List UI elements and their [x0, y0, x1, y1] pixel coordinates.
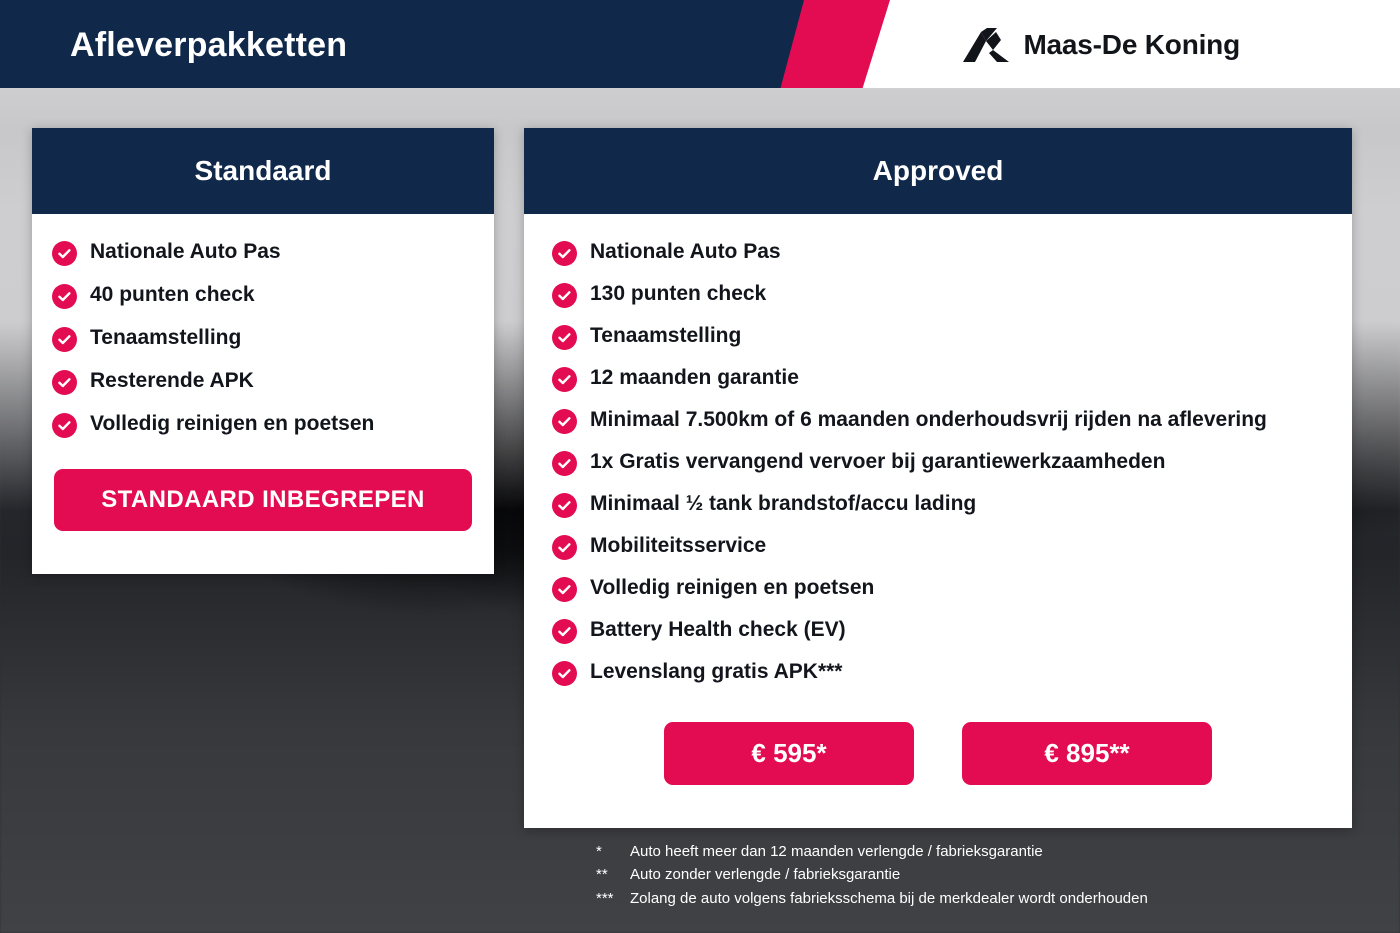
feature-item: Nationale Auto Pas — [52, 238, 474, 266]
check-circle-icon — [552, 661, 577, 686]
feature-label: Mobiliteitsservice — [590, 532, 766, 560]
poster-root: Afleverpakketten Maas-De Koning Standaar… — [0, 0, 1400, 933]
footnotes: *Auto heeft meer dan 12 maanden verlengd… — [596, 840, 1356, 910]
standaard-button-wrap: STANDAARD INBEGREPEN — [32, 453, 494, 531]
feature-item: 130 punten check — [552, 280, 1334, 308]
check-circle-icon — [552, 241, 577, 266]
feature-label: 1x Gratis vervangend vervoer bij garanti… — [590, 448, 1165, 476]
feature-item: Resterende APK — [52, 367, 474, 395]
page-title: Afleverpakketten — [70, 0, 347, 90]
feature-item: Tenaamstelling — [552, 322, 1334, 350]
footnote-marker: * — [596, 840, 630, 863]
feature-item: Minimaal ½ tank brandstof/accu lading — [552, 490, 1334, 518]
package-card-approved: Approved Nationale Auto Pas130 punten ch… — [524, 128, 1352, 828]
feature-item: Volledig reinigen en poetsen — [52, 410, 474, 438]
footnote-row: **Auto zonder verlengde / fabrieksgarant… — [596, 863, 1356, 886]
check-circle-icon — [52, 370, 77, 395]
feature-label: Minimaal ½ tank brandstof/accu lading — [590, 490, 976, 518]
footnote-marker: *** — [596, 887, 630, 910]
check-circle-icon — [52, 241, 77, 266]
check-circle-icon — [52, 413, 77, 438]
check-circle-icon — [552, 409, 577, 434]
feature-label: Levenslang gratis APK*** — [590, 658, 842, 686]
footnote-text: Zolang de auto volgens fabrieksschema bi… — [630, 887, 1148, 910]
page-header: Afleverpakketten Maas-De Koning — [0, 0, 1400, 90]
check-circle-icon — [552, 577, 577, 602]
card-title-standaard: Standaard — [32, 128, 494, 214]
check-circle-icon — [552, 367, 577, 392]
feature-item: 12 maanden garantie — [552, 364, 1334, 392]
card-body-standaard: Nationale Auto Pas40 punten checkTenaams… — [32, 214, 494, 531]
feature-label: Battery Health check (EV) — [590, 616, 846, 644]
standaard-included-button[interactable]: STANDAARD INBEGREPEN — [54, 469, 472, 531]
feature-item: Levenslang gratis APK*** — [552, 658, 1334, 686]
feature-item: Battery Health check (EV) — [552, 616, 1334, 644]
check-circle-icon — [552, 535, 577, 560]
footnote-row: *Auto heeft meer dan 12 maanden verlengd… — [596, 840, 1356, 863]
check-circle-icon — [552, 493, 577, 518]
check-circle-icon — [552, 283, 577, 308]
brand-logo: Maas-De Koning — [963, 0, 1240, 90]
footnote-row: ***Zolang de auto volgens fabrieksschema… — [596, 887, 1356, 910]
price-button[interactable]: € 895** — [962, 722, 1212, 785]
maas-de-koning-m-mark-icon — [963, 28, 1009, 62]
feature-item: 40 punten check — [52, 281, 474, 309]
feature-label: Nationale Auto Pas — [90, 238, 281, 266]
feature-label: 12 maanden garantie — [590, 364, 799, 392]
footnote-text: Auto zonder verlengde / fabrieksgarantie — [630, 863, 900, 886]
feature-label: Nationale Auto Pas — [590, 238, 781, 266]
price-button-row: € 595*€ 895** — [524, 700, 1352, 785]
feature-label: Volledig reinigen en poetsen — [590, 574, 874, 602]
feature-label: Volledig reinigen en poetsen — [90, 410, 374, 438]
feature-item: Tenaamstelling — [52, 324, 474, 352]
feature-label: 40 punten check — [90, 281, 255, 309]
feature-item: 1x Gratis vervangend vervoer bij garanti… — [552, 448, 1334, 476]
feature-label: 130 punten check — [590, 280, 766, 308]
check-circle-icon — [552, 619, 577, 644]
feature-label: Minimaal 7.500km of 6 maanden onderhouds… — [590, 406, 1267, 434]
feature-item: Minimaal 7.500km of 6 maanden onderhouds… — [552, 406, 1334, 434]
feature-list-standaard: Nationale Auto Pas40 punten checkTenaams… — [32, 214, 494, 438]
check-circle-icon — [552, 325, 577, 350]
feature-item: Nationale Auto Pas — [552, 238, 1334, 266]
feature-label: Resterende APK — [90, 367, 254, 395]
header-underline — [0, 88, 1400, 90]
check-circle-icon — [52, 327, 77, 352]
brand-name: Maas-De Koning — [1023, 29, 1240, 61]
feature-item: Mobiliteitsservice — [552, 532, 1334, 560]
card-title-approved: Approved — [524, 128, 1352, 214]
package-card-standaard: Standaard Nationale Auto Pas40 punten ch… — [32, 128, 494, 574]
footnote-marker: ** — [596, 863, 630, 886]
card-body-approved: Nationale Auto Pas130 punten checkTenaam… — [524, 214, 1352, 785]
check-circle-icon — [52, 284, 77, 309]
footnote-text: Auto heeft meer dan 12 maanden verlengde… — [630, 840, 1043, 863]
check-circle-icon — [552, 451, 577, 476]
feature-list-approved: Nationale Auto Pas130 punten checkTenaam… — [524, 214, 1352, 686]
feature-label: Tenaamstelling — [90, 324, 241, 352]
price-button[interactable]: € 595* — [664, 722, 914, 785]
feature-label: Tenaamstelling — [590, 322, 741, 350]
feature-item: Volledig reinigen en poetsen — [552, 574, 1334, 602]
